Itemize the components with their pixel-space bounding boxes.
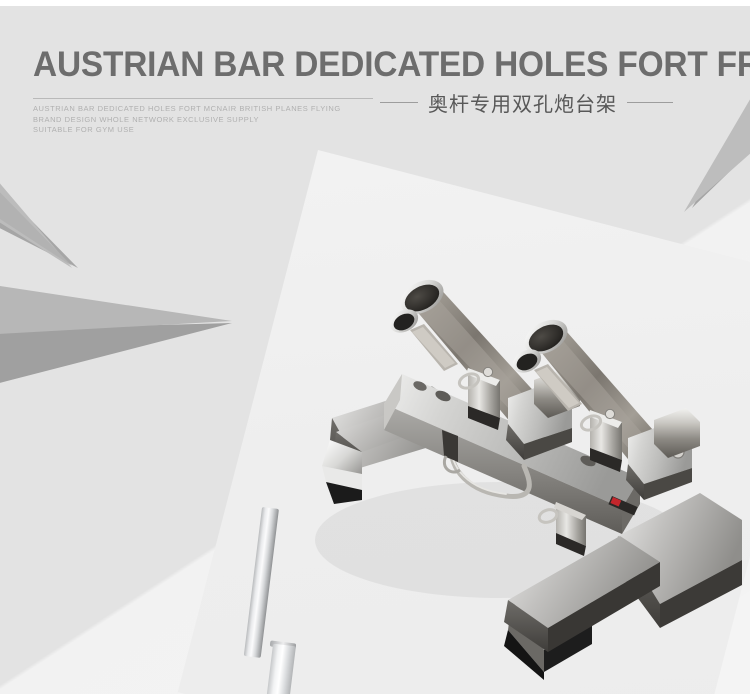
- page-title: AUSTRIAN BAR DEDICATED HOLES FORT FRAME: [33, 45, 750, 85]
- banner-stage: AUSTRIAN BAR DEDICATED HOLES FORT FRAME …: [0, 0, 750, 694]
- chinese-subtitle: 奥杆专用双孔炮台架: [428, 88, 617, 117]
- chinese-subtitle-rule-right: [627, 102, 673, 103]
- chinese-subtitle-row: 奥杆专用双孔炮台架: [380, 88, 710, 116]
- title-rule: [33, 98, 373, 99]
- chinese-subtitle-rule-left: [380, 102, 418, 103]
- subtitle-text: AUSTRIAN BAR DEDICATED HOLES FORT MCNAIR…: [33, 104, 341, 136]
